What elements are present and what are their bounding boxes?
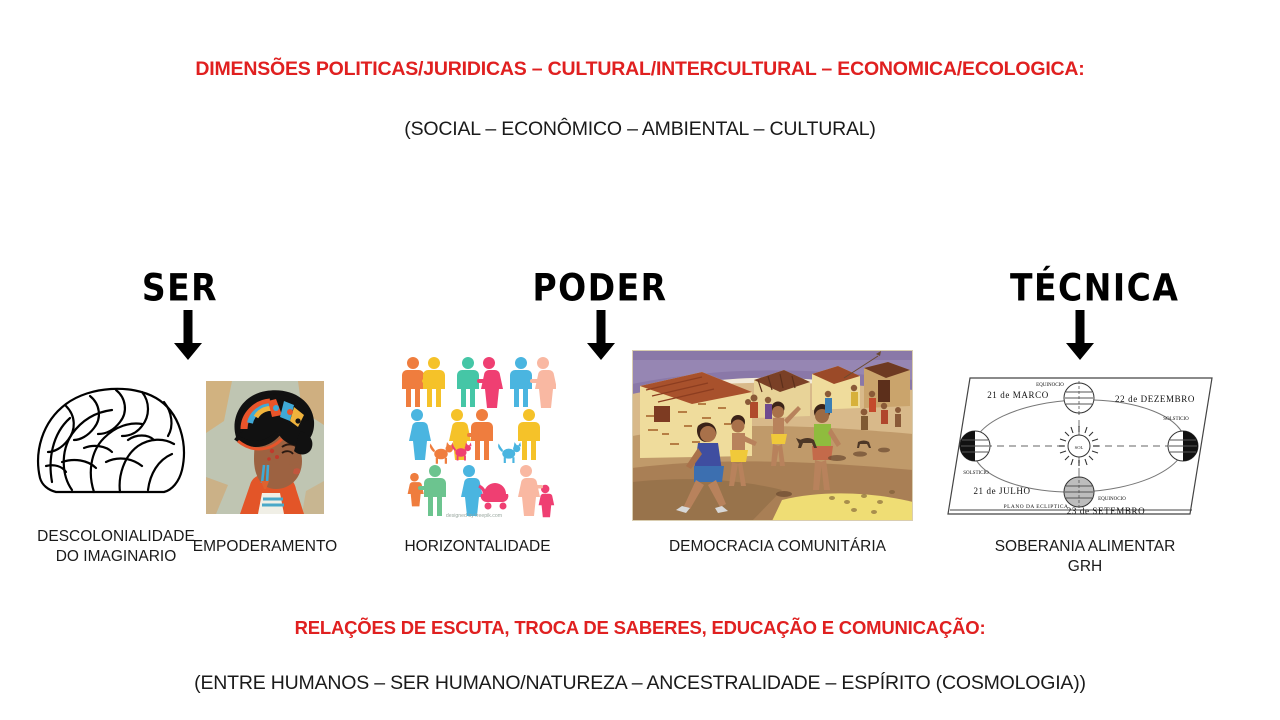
down-arrow-icon-tecnica (1065, 310, 1095, 360)
ecliptic-label-left-solsticio: SOLSTICIO (963, 471, 989, 476)
african-woman-turban-illustration (206, 381, 324, 514)
slide-canvas: DIMENSÕES POLITICAS/JURIDICAS – CULTURAL… (0, 0, 1280, 720)
ecliptic-label-bottom-equinox: EQUINOCIO (1098, 497, 1126, 502)
slide-title-primary: DIMENSÕES POLITICAS/JURIDICAS – CULTURAL… (0, 58, 1280, 81)
family-credit-text: designed by freepik.com (446, 513, 502, 519)
ecliptic-label-21-marco: 21 de MARCO (987, 390, 1049, 400)
slide-footer-secondary: (ENTRE HUMANOS – SER HUMANO/NATUREZA – A… (0, 672, 1280, 695)
slide-footer-primary: RELAÇÕES DE ESCUTA, TROCA DE SABERES, ED… (0, 617, 1280, 639)
community-street-scene-illustration (632, 350, 913, 521)
slide-title-secondary: (SOCIAL – ECONÔMICO – AMBIENTAL – CULTUR… (0, 118, 1280, 141)
ecliptic-label-top-equinox: EQUINOCIO (1036, 383, 1064, 388)
ecliptic-sun-label: SOL (1075, 445, 1084, 450)
brain-illustration (32, 382, 190, 506)
column-heading-ser: SER (110, 266, 250, 310)
ecliptic-label-plano: PLANO DA ECLIPTICA (1004, 504, 1069, 510)
family-pictograms-illustration: designed by freepik.com (393, 353, 556, 521)
column-heading-tecnica: TÉCNICA (1010, 266, 1170, 310)
ecliptic-label-21-julho: 21 de JULHO (973, 486, 1030, 496)
ecliptic-label-right-solsticio: SOLSTICIO (1163, 417, 1189, 422)
ecliptic-label-23-setembro: 23 de SETEMBRO (1067, 506, 1145, 516)
figure-caption-horizontalidade: HORIZONTALIDADE (385, 537, 570, 557)
down-arrow-icon-ser (173, 310, 203, 360)
down-arrow-icon-poder (586, 310, 616, 360)
figure-caption-democracia: DEMOCRACIA COMUNITÁRIA (640, 537, 915, 557)
column-heading-poder: PODER (525, 266, 675, 310)
ecliptic-label-22-dezembro: 22 de DEZEMBRO (1115, 394, 1195, 404)
figure-caption-soberania: SOBERANIA ALIMENTAR GRH (955, 537, 1215, 577)
figure-caption-empoderamento: EMPODERAMENTO (190, 537, 340, 557)
ecliptic-plane-diagram: SOL (940, 370, 1220, 522)
